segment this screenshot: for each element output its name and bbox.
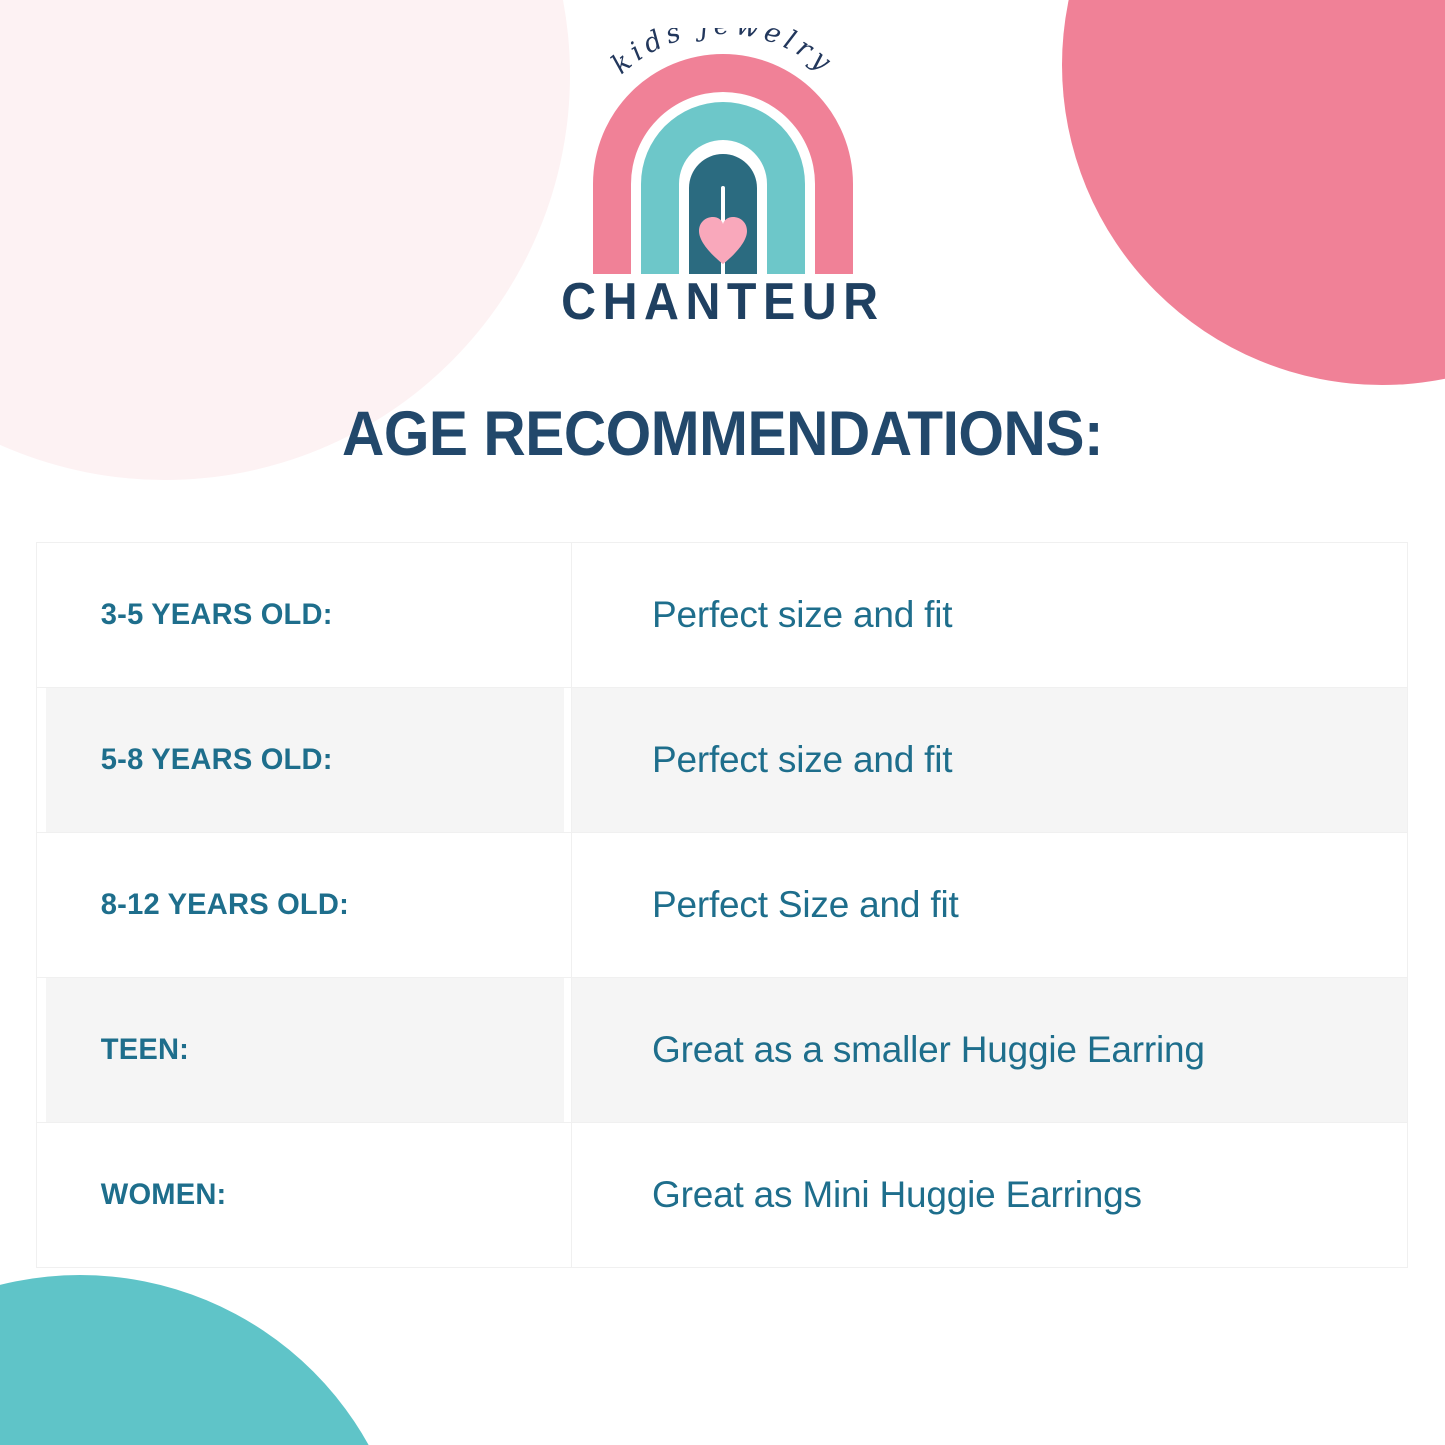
age-range-label: 5-8 YEARS OLD: — [45, 688, 564, 833]
infographic-page: kids jewelry CHANTEUR AGE RECOMMENDATION… — [0, 0, 1445, 1445]
fit-description: Perfect size and fit — [572, 543, 1408, 688]
table-row: 5-8 YEARS OLD: Perfect size and fit — [37, 688, 1408, 833]
brand-wordmark: CHANTEUR — [561, 272, 884, 332]
fit-description: Great as a smaller Huggie Earring — [572, 978, 1408, 1123]
fit-description: Great as Mini Huggie Earrings — [572, 1123, 1408, 1268]
brand-logo: kids jewelry CHANTEUR — [0, 28, 1445, 328]
fit-description: Perfect Size and fit — [572, 833, 1408, 978]
page-title: AGE RECOMMENDATIONS: — [51, 398, 1395, 470]
age-range-label: TEEN: — [45, 978, 564, 1123]
age-range-label: WOMEN: — [45, 1123, 564, 1268]
table-row: 8-12 YEARS OLD: Perfect Size and fit — [37, 833, 1408, 978]
rainbow-heart-icon: kids jewelry — [553, 28, 893, 280]
table-row: TEEN: Great as a smaller Huggie Earring — [37, 978, 1408, 1123]
decorative-blob-teal — [0, 1275, 410, 1445]
age-recommendations-table: 3-5 YEARS OLD: Perfect size and fit 5-8 … — [36, 542, 1408, 1268]
age-range-label: 3-5 YEARS OLD: — [45, 543, 564, 688]
table-row: WOMEN: Great as Mini Huggie Earrings — [37, 1123, 1408, 1268]
table-row: 3-5 YEARS OLD: Perfect size and fit — [37, 543, 1408, 688]
fit-description: Perfect size and fit — [572, 688, 1408, 833]
age-range-label: 8-12 YEARS OLD: — [45, 833, 564, 978]
